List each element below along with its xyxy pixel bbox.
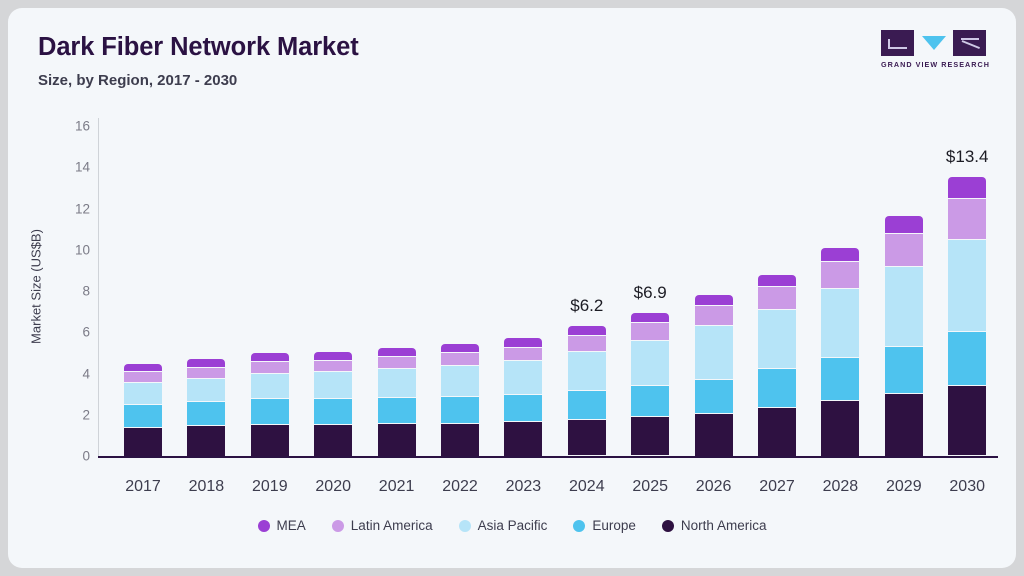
bar-segment[interactable] — [441, 424, 479, 456]
bar-segment[interactable] — [378, 348, 416, 357]
bar-segment[interactable] — [695, 414, 733, 456]
bar-segment[interactable] — [504, 338, 542, 347]
bar-segment[interactable] — [504, 395, 542, 422]
x-tick-label: 2030 — [932, 478, 1002, 496]
bar-value-label: $6.2 — [570, 296, 603, 316]
bar-segment[interactable] — [124, 364, 162, 372]
bar-segment[interactable] — [568, 352, 606, 391]
y-tick-label: 4 — [52, 366, 90, 381]
legend-label: North America — [681, 518, 767, 533]
bar-segment[interactable] — [251, 399, 289, 425]
chart-legend: MEALatin AmericaAsia PacificEuropeNorth … — [8, 518, 1016, 533]
bar-segment[interactable] — [251, 374, 289, 400]
bar-value-label: $6.9 — [634, 283, 667, 303]
bar-segment[interactable] — [187, 426, 225, 456]
bar-segment[interactable] — [314, 372, 352, 399]
bar-segment[interactable] — [695, 306, 733, 326]
y-tick-label: 0 — [52, 449, 90, 464]
y-tick-label: 2 — [52, 407, 90, 422]
table-row[interactable]: $6.2 — [568, 326, 606, 456]
x-tick-label: 2019 — [235, 478, 305, 496]
bar-segment[interactable] — [948, 177, 986, 200]
x-tick-label: 2023 — [488, 478, 558, 496]
y-axis-line — [98, 118, 99, 456]
chart-card: Dark Fiber Network Market Size, by Regio… — [8, 8, 1016, 568]
legend-item[interactable]: Europe — [573, 518, 636, 533]
legend-label: Asia Pacific — [478, 518, 548, 533]
bar-segment[interactable] — [314, 399, 352, 425]
bar-segment[interactable] — [885, 216, 923, 235]
legend-color-swatch — [662, 520, 674, 532]
table-row[interactable]: $13.4 — [948, 177, 986, 456]
table-row[interactable] — [821, 248, 859, 456]
legend-item[interactable]: MEA — [258, 518, 306, 533]
bar-segment[interactable] — [124, 372, 162, 382]
bar-segment[interactable] — [568, 420, 606, 456]
bar-segment[interactable] — [378, 424, 416, 456]
bar-segment[interactable] — [758, 275, 796, 287]
y-tick-label: 16 — [52, 119, 90, 134]
legend-item[interactable]: North America — [662, 518, 767, 533]
table-row[interactable] — [251, 353, 289, 456]
bar-segment[interactable] — [631, 323, 669, 341]
bar-segment[interactable] — [504, 361, 542, 395]
bar-segment[interactable] — [187, 368, 225, 378]
bar-segment[interactable] — [378, 369, 416, 398]
bar-segment[interactable] — [251, 353, 289, 362]
bar-segment[interactable] — [821, 262, 859, 289]
bar-segment[interactable] — [568, 326, 606, 336]
table-row[interactable] — [695, 295, 733, 456]
x-tick-label: 2018 — [171, 478, 241, 496]
legend-item[interactable]: Latin America — [332, 518, 433, 533]
bar-segment[interactable] — [758, 287, 796, 310]
table-row[interactable] — [187, 359, 225, 456]
bar-segment[interactable] — [568, 336, 606, 351]
legend-item[interactable]: Asia Pacific — [459, 518, 548, 533]
legend-label: MEA — [277, 518, 306, 533]
y-tick-label: 10 — [52, 242, 90, 257]
bar-segment[interactable] — [948, 199, 986, 240]
bar-segment[interactable] — [187, 379, 225, 403]
bar-segment[interactable] — [758, 408, 796, 456]
x-tick-label: 2022 — [425, 478, 495, 496]
table-row[interactable] — [314, 352, 352, 456]
x-axis-line — [98, 456, 998, 458]
table-row[interactable] — [758, 275, 796, 457]
bar-segment[interactable] — [504, 348, 542, 361]
bar-segment[interactable] — [124, 428, 162, 456]
bar-segment[interactable] — [314, 352, 352, 361]
bar-segment[interactable] — [441, 344, 479, 353]
bar-segment[interactable] — [568, 391, 606, 420]
bar-segment[interactable] — [948, 332, 986, 386]
bar-segment[interactable] — [504, 422, 542, 456]
x-tick-label: 2024 — [552, 478, 622, 496]
bar-segment[interactable] — [821, 289, 859, 358]
bar-segment[interactable] — [948, 386, 986, 456]
x-tick-label: 2027 — [742, 478, 812, 496]
table-row[interactable] — [504, 338, 542, 456]
bar-segment[interactable] — [631, 313, 669, 323]
legend-color-swatch — [573, 520, 585, 532]
x-tick-label: 2029 — [869, 478, 939, 496]
bar-segment[interactable] — [631, 386, 669, 417]
bar-segment[interactable] — [187, 402, 225, 426]
bar-segment[interactable] — [251, 425, 289, 456]
y-tick-label: 6 — [52, 325, 90, 340]
x-tick-label: 2025 — [615, 478, 685, 496]
bar-segment[interactable] — [251, 362, 289, 373]
x-tick-label: 2020 — [298, 478, 368, 496]
table-row[interactable] — [124, 364, 162, 456]
legend-label: Latin America — [351, 518, 433, 533]
bar-segment[interactable] — [758, 310, 796, 370]
bar-segment[interactable] — [187, 359, 225, 368]
table-row[interactable] — [378, 348, 416, 456]
bar-segment[interactable] — [631, 341, 669, 386]
bar-segment[interactable] — [314, 361, 352, 372]
y-tick-label: 8 — [52, 284, 90, 299]
bar-segment[interactable] — [441, 366, 479, 397]
legend-label: Europe — [592, 518, 636, 533]
y-tick-label: 12 — [52, 201, 90, 216]
bar-segment[interactable] — [695, 380, 733, 414]
bar-segment[interactable] — [885, 394, 923, 456]
bar-segment[interactable] — [948, 240, 986, 332]
bar-segment[interactable] — [695, 295, 733, 306]
bar-segment[interactable] — [314, 425, 352, 456]
bar-segment[interactable] — [885, 347, 923, 394]
bar-segment[interactable] — [441, 397, 479, 424]
x-tick-label: 2028 — [805, 478, 875, 496]
bar-value-label: $13.4 — [946, 147, 989, 167]
bar-segment[interactable] — [885, 234, 923, 267]
bar-segment[interactable] — [441, 353, 479, 366]
bar-segment[interactable] — [821, 248, 859, 262]
x-tick-label: 2021 — [362, 478, 432, 496]
bar-segment[interactable] — [821, 401, 859, 456]
bar-segment[interactable] — [378, 398, 416, 424]
y-axis-title: Market Size (US$B) — [29, 117, 44, 457]
legend-color-swatch — [332, 520, 344, 532]
bar-segment[interactable] — [631, 417, 669, 456]
legend-color-swatch — [459, 520, 471, 532]
bar-segment[interactable] — [885, 267, 923, 346]
bar-segment[interactable] — [695, 326, 733, 380]
y-tick-label: 14 — [52, 160, 90, 175]
x-tick-label: 2017 — [108, 478, 178, 496]
bar-segment[interactable] — [124, 383, 162, 406]
table-row[interactable]: $6.9 — [631, 313, 669, 456]
bar-segment[interactable] — [821, 358, 859, 401]
legend-color-swatch — [258, 520, 270, 532]
table-row[interactable] — [441, 344, 479, 456]
bar-segment[interactable] — [378, 357, 416, 369]
x-tick-label: 2026 — [679, 478, 749, 496]
table-row[interactable] — [885, 216, 923, 456]
chart-plot-area: Market Size (US$B) 0246810121416 $6.2$6.… — [8, 8, 1016, 568]
bar-segment[interactable] — [124, 405, 162, 428]
bar-segment[interactable] — [758, 369, 796, 407]
